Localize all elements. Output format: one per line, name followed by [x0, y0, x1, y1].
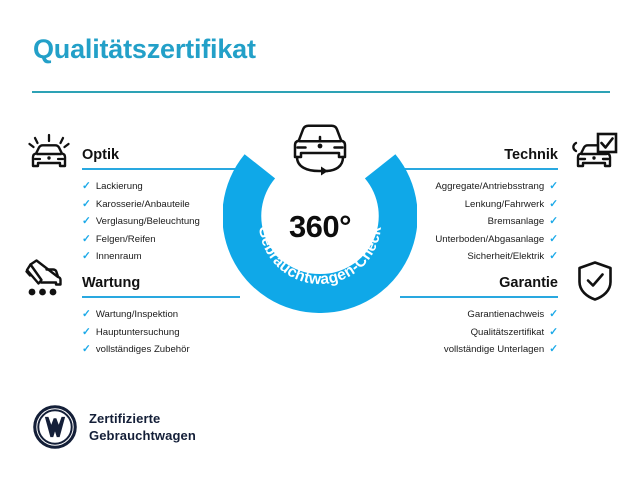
list-item-label: Verglasung/Beleuchtung	[96, 216, 200, 227]
title-divider	[32, 91, 610, 93]
check-icon: ✓	[549, 233, 558, 245]
list-item: Qualitätszertifikat✓	[400, 324, 558, 342]
section-technik: Technik Aggregate/Antriebsstrang✓ Lenkun…	[400, 140, 558, 266]
footer-brand: Zertifizierte Gebrauchtwagen	[33, 405, 196, 449]
list-item: ✓Verglasung/Beleuchtung	[82, 213, 240, 231]
section-heading: Technik	[504, 147, 558, 163]
check-icon: ✓	[549, 343, 558, 355]
list-item: Garantienachweis✓	[400, 306, 558, 324]
list-item: ✓Karosserie/Anbauteile	[82, 196, 240, 214]
certificate-page: Qualitätszertifikat Optik ✓Lackierung ✓K…	[0, 0, 640, 480]
list-item: Aggregate/Antriebsstrang✓	[400, 178, 558, 196]
list-item-label: vollständige Unterlagen	[444, 344, 544, 355]
check-icon: ✓	[549, 180, 558, 192]
list-item-label: Lackierung	[96, 181, 143, 192]
list-item: ✓vollständiges Zubehör	[82, 341, 240, 359]
list-item: Sicherheit/Elektrik✓	[400, 248, 558, 266]
list-item: ✓Felgen/Reifen	[82, 231, 240, 249]
car-checkbox-icon	[570, 131, 618, 178]
list-item: ✓Innenraum	[82, 248, 240, 266]
list-item-label: vollständiges Zubehör	[96, 344, 190, 355]
check-icon: ✓	[549, 326, 558, 338]
section-header-wartung: Wartung	[82, 268, 240, 298]
section-divider	[400, 296, 558, 298]
list-item-label: Innenraum	[96, 251, 142, 262]
check-icon: ✓	[82, 308, 91, 320]
checklist-wartung: ✓Wartung/Inspektion ✓Hauptuntersuchung ✓…	[82, 306, 240, 359]
check-icon: ✓	[549, 215, 558, 227]
list-item: Bremsanlage✓	[400, 213, 558, 231]
checklist-garantie: Garantienachweis✓ Qualitätszertifikat✓ v…	[400, 306, 558, 359]
badge-360-gebrauchtwagen-check: Gebrauchtwagen-Check 360°	[223, 119, 417, 313]
check-icon: ✓	[82, 215, 91, 227]
page-title: Qualitätszertifikat	[33, 34, 256, 65]
list-item-label: Aggregate/Antriebsstrang	[435, 181, 544, 192]
section-garantie: Garantie Garantienachweis✓ Qualitätszert…	[400, 268, 558, 359]
list-item-label: Wartung/Inspektion	[96, 309, 178, 320]
section-header-optik: Optik	[82, 140, 240, 170]
check-icon: ✓	[549, 198, 558, 210]
list-item: Lenkung/Fahrwerk✓	[400, 196, 558, 214]
list-item-label: Qualitätszertifikat	[471, 327, 545, 338]
check-icon: ✓	[549, 308, 558, 320]
section-header-technik: Technik	[400, 140, 558, 170]
check-icon: ✓	[82, 326, 91, 338]
footer-line-2: Gebrauchtwagen	[89, 427, 196, 444]
section-optik: Optik ✓Lackierung ✓Karosserie/Anbauteile…	[82, 140, 240, 266]
checklist-optik: ✓Lackierung ✓Karosserie/Anbauteile ✓Verg…	[82, 178, 240, 266]
list-item: ✓Hauptuntersuchung	[82, 324, 240, 342]
check-icon: ✓	[82, 198, 91, 210]
section-heading: Optik	[82, 147, 119, 163]
check-icon: ✓	[549, 250, 558, 262]
list-item-label: Bremsanlage	[488, 216, 545, 227]
footer-brand-text: Zertifizierte Gebrauchtwagen	[89, 410, 196, 444]
car-rotate-360-icon	[277, 115, 363, 177]
list-item: ✓Wartung/Inspektion	[82, 306, 240, 324]
list-item-label: Karosserie/Anbauteile	[96, 199, 190, 210]
list-item-label: Felgen/Reifen	[96, 234, 156, 245]
section-heading: Garantie	[499, 275, 558, 291]
section-divider	[82, 296, 240, 298]
section-header-garantie: Garantie	[400, 268, 558, 298]
check-icon: ✓	[82, 343, 91, 355]
list-item-label: Sicherheit/Elektrik	[467, 251, 544, 262]
list-item-label: Garantienachweis	[467, 309, 544, 320]
check-icon: ✓	[82, 180, 91, 192]
service-book-pen-car-icon	[24, 258, 74, 305]
section-divider	[82, 168, 240, 170]
check-icon: ✓	[82, 250, 91, 262]
checklist-technik: Aggregate/Antriebsstrang✓ Lenkung/Fahrwe…	[400, 178, 558, 266]
list-item-label: Hauptuntersuchung	[96, 327, 180, 338]
check-icon: ✓	[82, 233, 91, 245]
list-item: ✓Lackierung	[82, 178, 240, 196]
section-divider	[400, 168, 558, 170]
shield-check-icon	[576, 260, 614, 307]
section-wartung: Wartung ✓Wartung/Inspektion ✓Hauptunters…	[82, 268, 240, 359]
footer-line-1: Zertifizierte	[89, 410, 196, 427]
list-item: vollständige Unterlagen✓	[400, 341, 558, 359]
car-front-shine-icon	[26, 131, 72, 178]
section-heading: Wartung	[82, 275, 140, 291]
list-item-label: Unterboden/Abgasanlage	[435, 234, 544, 245]
volkswagen-logo-icon	[33, 405, 77, 449]
list-item-label: Lenkung/Fahrwerk	[465, 199, 544, 210]
list-item: Unterboden/Abgasanlage✓	[400, 231, 558, 249]
